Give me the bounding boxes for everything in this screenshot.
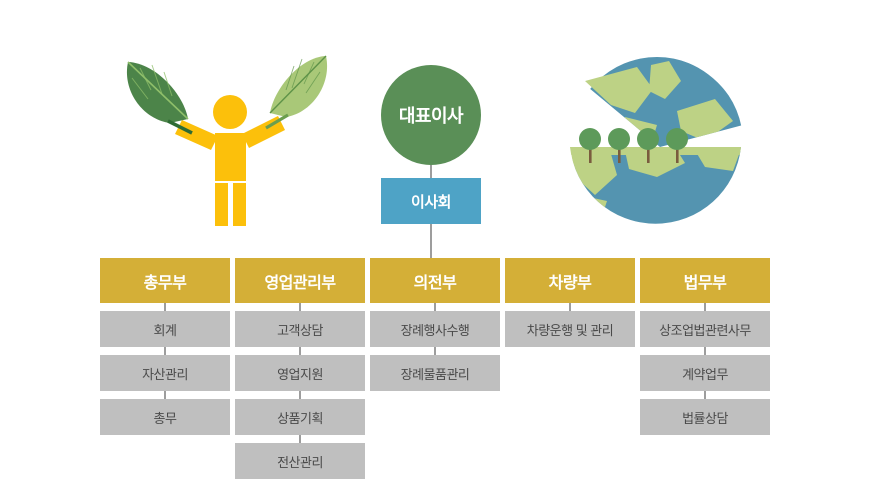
- sub-item[interactable]: 법률상담: [640, 399, 770, 435]
- sub-item[interactable]: 회계: [100, 311, 230, 347]
- figure-right-leg-icon: [233, 183, 246, 226]
- department-label-2: 영업관리부: [264, 269, 335, 293]
- sub-item[interactable]: 자산관리: [100, 355, 230, 391]
- sub-item-label: 법률상담: [682, 408, 728, 427]
- department-header-2[interactable]: 영업관리부: [235, 258, 365, 303]
- sub-item[interactable]: 차량운행 및 관리: [505, 311, 635, 347]
- department-label-5: 법무부: [684, 269, 727, 293]
- sub-item-label: 전산관리: [277, 452, 323, 471]
- sub-items-4: 차량운행 및 관리: [505, 311, 635, 347]
- sub-item[interactable]: 상품기획: [235, 399, 365, 435]
- department-label-3: 의전부: [414, 269, 457, 293]
- sub-item[interactable]: 전산관리: [235, 443, 365, 479]
- leaf-light-green-icon: [266, 56, 327, 128]
- sub-item-label: 장례행사수행: [401, 320, 470, 339]
- connector-ceo-to-board: [430, 165, 432, 178]
- department-column-4: 차량부 차량운행 및 관리: [505, 258, 635, 347]
- opened-globe-with-trees-illustration: [565, 55, 755, 235]
- department-header-1[interactable]: 총무부: [100, 258, 230, 303]
- department-header-3[interactable]: 의전부: [370, 258, 500, 303]
- org-chart: 대표이사 이사회 총무부 회계 자산관리 총무: [0, 0, 870, 495]
- department-header-5[interactable]: 법무부: [640, 258, 770, 303]
- figure-left-arm-icon: [175, 120, 218, 150]
- sub-item-label: 회계: [154, 320, 177, 339]
- board-label: 이사회: [411, 191, 451, 212]
- department-columns: 총무부 회계 자산관리 총무 영업관리부 고객상담: [100, 258, 770, 488]
- sub-item[interactable]: 장례행사수행: [370, 311, 500, 347]
- sub-item[interactable]: 상조업법관련사무: [640, 311, 770, 347]
- department-label-4: 차량부: [549, 269, 592, 293]
- sub-item-label: 상품기획: [277, 408, 323, 427]
- ceo-label: 대표이사: [399, 102, 463, 128]
- ceo-node[interactable]: 대표이사: [381, 65, 481, 165]
- sub-item-label: 장례물품관리: [401, 364, 470, 383]
- sub-item-label: 영업지원: [277, 364, 323, 383]
- sub-item-label: 자산관리: [142, 364, 188, 383]
- sub-item[interactable]: 계약업무: [640, 355, 770, 391]
- sub-item[interactable]: 고객상담: [235, 311, 365, 347]
- department-column-5: 법무부 상조업법관련사무 계약업무 법률상담: [640, 258, 770, 435]
- person-holding-leaves-illustration: [110, 50, 330, 240]
- sub-item-label: 계약업무: [682, 364, 728, 383]
- sub-item-label: 상조업법관련사무: [659, 320, 751, 339]
- sub-items-3: 장례행사수행 장례물품관리: [370, 311, 500, 391]
- figure-head-icon: [213, 95, 247, 129]
- department-column-2: 영업관리부 고객상담 영업지원 상품기획 전산관리: [235, 258, 365, 479]
- sub-items-5: 상조업법관련사무 계약업무 법률상담: [640, 311, 770, 435]
- sub-item-label: 총무: [154, 408, 177, 427]
- figure-left-leg-icon: [215, 183, 228, 226]
- sub-item-label: 차량운행 및 관리: [527, 320, 613, 339]
- department-label-1: 총무부: [144, 269, 187, 293]
- sub-item[interactable]: 장례물품관리: [370, 355, 500, 391]
- sub-item[interactable]: 영업지원: [235, 355, 365, 391]
- board-node[interactable]: 이사회: [381, 178, 481, 224]
- figure-torso-icon: [215, 133, 246, 181]
- sub-items-2: 고객상담 영업지원 상품기획 전산관리: [235, 311, 365, 479]
- sub-items-1: 회계 자산관리 총무: [100, 311, 230, 435]
- sub-item-label: 고객상담: [277, 320, 323, 339]
- department-column-1: 총무부 회계 자산관리 총무: [100, 258, 230, 435]
- connector-board-to-protocol-dept: [430, 224, 432, 258]
- sub-item[interactable]: 총무: [100, 399, 230, 435]
- department-header-4[interactable]: 차량부: [505, 258, 635, 303]
- department-column-3: 의전부 장례행사수행 장례물품관리: [370, 258, 500, 391]
